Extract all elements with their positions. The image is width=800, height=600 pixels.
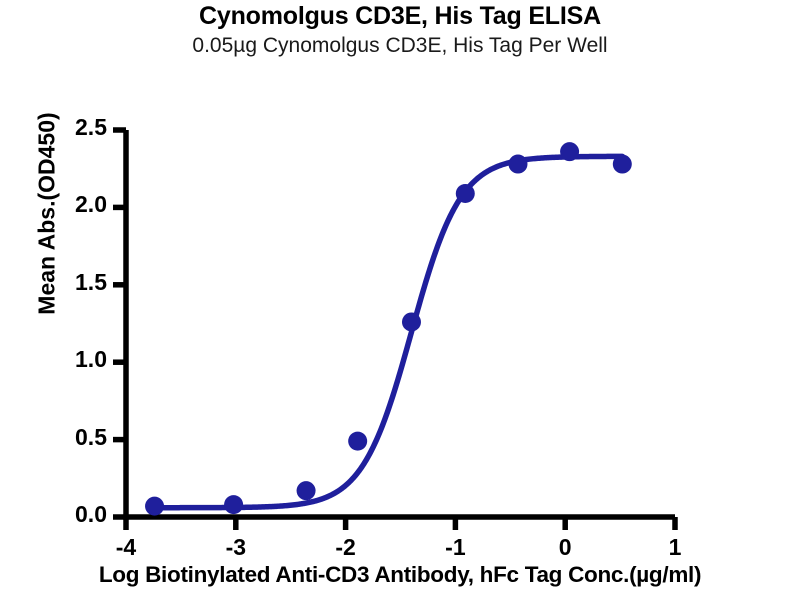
x-tick-label-5: 1 (645, 534, 705, 561)
data-point-0 (145, 497, 164, 516)
data-points (145, 142, 632, 515)
y-tick-label-0: 0.0 (51, 501, 107, 528)
elisa-chart-figure: Cynomolgus CD3E, His Tag ELISA 0.05µg Cy… (0, 0, 800, 600)
y-tick-label-1: 0.5 (51, 424, 107, 451)
data-point-5 (456, 184, 475, 203)
data-point-8 (613, 155, 632, 174)
y-tick-label-5: 2.5 (51, 114, 107, 141)
y-tick-label-3: 1.5 (51, 269, 107, 296)
data-point-2 (297, 481, 316, 500)
data-point-1 (224, 495, 243, 514)
fit-curve (155, 156, 623, 507)
y-tick-label-2: 1.0 (51, 346, 107, 373)
x-axis-label: Log Biotinylated Anti-CD3 Antibody, hFc … (0, 562, 800, 588)
data-point-7 (560, 142, 579, 161)
y-tick-label-4: 2.0 (51, 191, 107, 218)
sigmoid-curve-path (155, 156, 623, 507)
data-point-4 (402, 312, 421, 331)
x-tick-label-0: -4 (96, 534, 156, 561)
data-point-6 (508, 155, 527, 174)
x-tick-label-1: -3 (206, 534, 266, 561)
data-point-3 (348, 432, 367, 451)
x-tick-label-4: 0 (535, 534, 595, 561)
x-tick-label-3: -1 (425, 534, 485, 561)
x-tick-label-2: -2 (316, 534, 376, 561)
axes (113, 130, 675, 530)
plot-area (0, 0, 800, 600)
